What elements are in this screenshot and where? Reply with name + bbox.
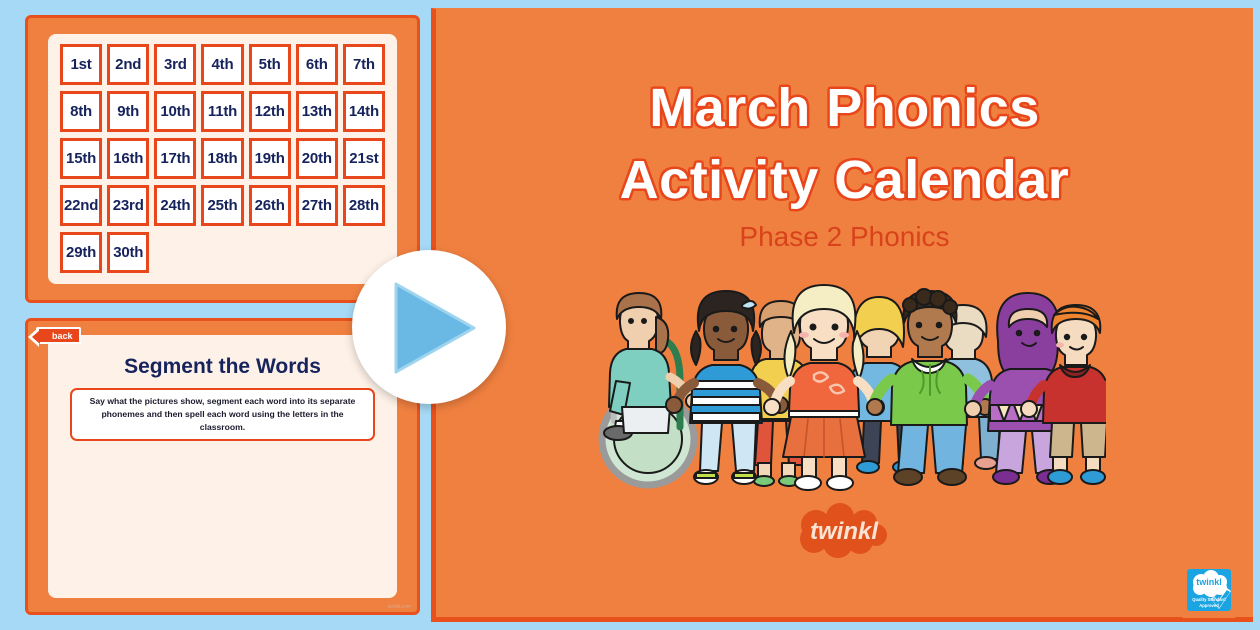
play-button[interactable] — [352, 250, 506, 404]
twinkl-logo: twinkl — [784, 503, 904, 559]
badge-caption-line2: Approved — [1187, 603, 1231, 608]
main-slide-preview[interactable]: March Phonics Activity Calendar Phase 2 … — [431, 8, 1253, 622]
calendar-day-cell[interactable]: 10th — [154, 91, 196, 132]
calendar-day-cell[interactable]: 13th — [296, 91, 338, 132]
calendar-day-cell[interactable]: 16th — [107, 138, 149, 179]
calendar-grid: 1st 2nd 3rd 4th 5th 6th 7th 8th 9th 10th… — [60, 44, 385, 273]
calendar-day-cell[interactable]: 14th — [343, 91, 385, 132]
badge-caption-line1: Quality Standard — [1187, 597, 1231, 602]
calendar-day-cell[interactable]: 11th — [201, 91, 243, 132]
calendar-day-cell[interactable]: 27th — [296, 185, 338, 226]
calendar-day-cell[interactable]: 1st — [60, 44, 102, 85]
thumbnail-calendar-slide[interactable]: 1st 2nd 3rd 4th 5th 6th 7th 8th 9th 10th… — [25, 15, 420, 303]
calendar-day-cell[interactable]: 4th — [201, 44, 243, 85]
segment-slide-instruction: Say what the pictures show, segment each… — [70, 388, 375, 441]
calendar-day-cell[interactable]: 15th — [60, 138, 102, 179]
calendar-day-cell[interactable]: 17th — [154, 138, 196, 179]
calendar-day-cell[interactable]: 21st — [343, 138, 385, 179]
calendar-day-cell[interactable]: 3rd — [154, 44, 196, 85]
calendar-day-cell[interactable]: 9th — [107, 91, 149, 132]
calendar-day-cell[interactable]: 8th — [60, 91, 102, 132]
calendar-day-cell[interactable]: 6th — [296, 44, 338, 85]
badge-brand-text: twinkl — [1187, 577, 1231, 587]
calendar-day-cell[interactable]: 29th — [60, 232, 102, 273]
segment-slide-title: Segment the Words — [48, 355, 397, 379]
calendar-day-cell[interactable]: 7th — [343, 44, 385, 85]
calendar-day-cell[interactable]: 28th — [343, 185, 385, 226]
quality-standard-badge: twinkl Quality Standard Approved — [1181, 562, 1237, 618]
badge-caption: Quality Standard Approved — [1187, 597, 1231, 608]
calendar-day-cell[interactable]: 23rd — [107, 185, 149, 226]
calendar-day-cell[interactable]: 2nd — [107, 44, 149, 85]
calendar-day-cell[interactable]: 24th — [154, 185, 196, 226]
calendar-day-cell[interactable]: 22nd — [60, 185, 102, 226]
children-holding-hands-illustration — [586, 271, 1106, 499]
calendar-day-cell[interactable]: 5th — [249, 44, 291, 85]
presentation-preview: 1st 2nd 3rd 4th 5th 6th 7th 8th 9th 10th… — [0, 0, 1260, 630]
page-title-line-1: March Phonics — [436, 77, 1253, 139]
calendar-day-cell[interactable]: 30th — [107, 232, 149, 273]
page-subtitle: Phase 2 Phonics — [436, 221, 1253, 253]
calendar-day-cell[interactable]: 19th — [249, 138, 291, 179]
watermark-text: twinkl.com — [388, 604, 411, 610]
calendar-slide-body: 1st 2nd 3rd 4th 5th 6th 7th 8th 9th 10th… — [48, 34, 397, 284]
play-triangle-icon — [390, 280, 478, 374]
calendar-day-cell[interactable]: 12th — [249, 91, 291, 132]
calendar-day-cell[interactable]: 20th — [296, 138, 338, 179]
back-button[interactable]: back — [36, 327, 81, 344]
page-title-line-2: Activity Calendar — [436, 149, 1253, 211]
twinkl-wordmark: twinkl — [810, 518, 879, 545]
calendar-day-cell[interactable]: 25th — [201, 185, 243, 226]
badge-inner: twinkl Quality Standard Approved — [1187, 569, 1231, 611]
calendar-day-cell[interactable]: 26th — [249, 185, 291, 226]
segment-slide-body: Segment the Words Say what the pictures … — [48, 335, 397, 598]
calendar-day-cell[interactable]: 18th — [201, 138, 243, 179]
